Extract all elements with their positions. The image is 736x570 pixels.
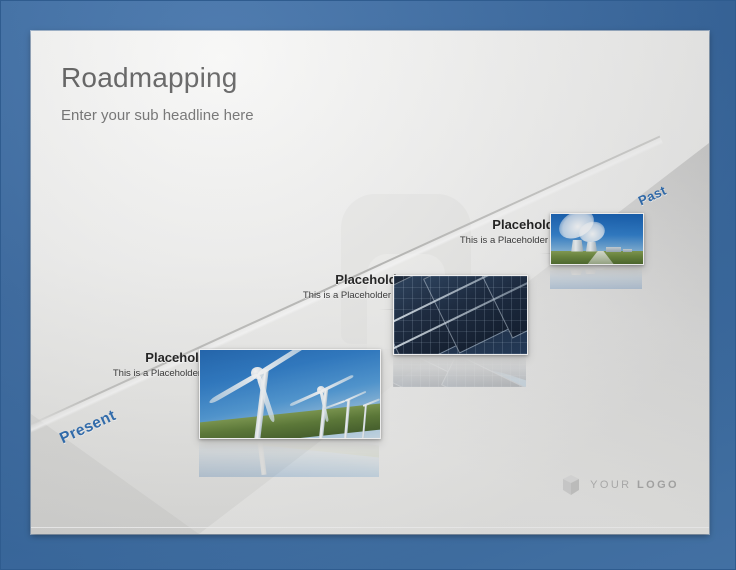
- slide-header: Roadmapping Enter your sub headline here: [61, 63, 254, 124]
- turbine-blade-main-1: [256, 349, 309, 377]
- turbine-blade-far-1: [344, 391, 366, 402]
- plant-building-a: [606, 247, 621, 252]
- milestone-heading: Placeholder: [269, 273, 409, 288]
- power-plant-photo[interactable]: [550, 213, 644, 265]
- page-title: Roadmapping: [61, 63, 254, 94]
- wind-turbines-photo[interactable]: [199, 349, 381, 439]
- slide-canvas: Roadmapping Enter your sub headline here…: [31, 31, 709, 534]
- logo-word-light: YOUR: [590, 479, 631, 491]
- slide-bottom-rule: [31, 527, 709, 528]
- milestone-description: This is a Placeholder text: [429, 235, 566, 246]
- wind-scene: [200, 350, 380, 438]
- power-plant-scene: [551, 214, 643, 264]
- logo-word-bold: LOGO: [637, 479, 679, 491]
- ground-shape: [199, 403, 381, 439]
- milestone-text-block: Placeholder This is a Placeholder text: [429, 218, 566, 246]
- presentation-frame: Roadmapping Enter your sub headline here…: [0, 0, 736, 570]
- page-subtitle: Enter your sub headline here: [61, 107, 254, 124]
- turbine-blade-second-1: [320, 374, 354, 392]
- milestone-description: This is a Placeholder text: [79, 368, 219, 379]
- cube-logo-icon: [561, 474, 581, 496]
- milestone-description: This is a Placeholder text: [269, 290, 409, 301]
- milestone-text-block: Placeholder This is a Placeholder text: [79, 351, 219, 379]
- cooling-tower-left: [571, 240, 583, 252]
- cooling-tower-right: [586, 242, 597, 252]
- plant-building-b: [623, 249, 632, 252]
- solar-panels-photo[interactable]: [393, 275, 528, 355]
- milestone-heading: Placeholder: [79, 351, 219, 366]
- milestone-text-block: Placeholder This is a Placeholder text: [269, 273, 409, 301]
- logo-text: YOUR LOGO: [590, 479, 679, 491]
- turbine-blade-second-2: [289, 390, 321, 407]
- turbine-blade-main-2: [208, 372, 259, 404]
- logo: YOUR LOGO: [561, 474, 679, 496]
- milestone-heading: Placeholder: [429, 218, 566, 233]
- solar-scene: [394, 276, 527, 354]
